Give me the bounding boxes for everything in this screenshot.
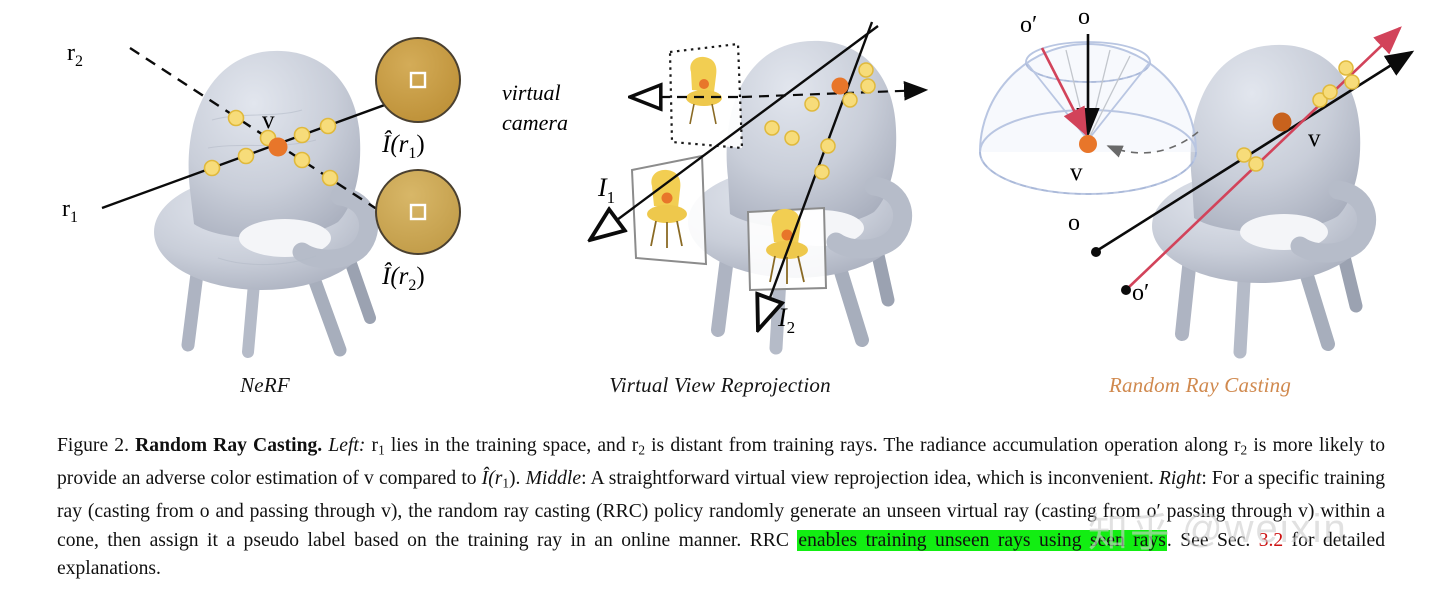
- panel-nerf: r2 r1 v Î(r1) Î(r2) NeRF: [40, 0, 490, 420]
- panel-title-random-ray-casting: Random Ray Casting: [960, 373, 1440, 398]
- caption-figure-label: Figure 2.: [57, 435, 129, 456]
- label-ihat-r2: Î(r2): [381, 262, 425, 294]
- chair-model-left: [154, 51, 370, 352]
- label-o-prime-cone: o′: [1020, 12, 1037, 38]
- label-o-cone: o: [1078, 4, 1090, 30]
- nerf-diagram: r2 r1 v Î(r1) Î(r2): [40, 0, 490, 400]
- voxel-point-right: [1273, 113, 1292, 132]
- voxel-point-cone: [1079, 135, 1097, 153]
- random-ray-casting-diagram: o o′ v o o′ v: [960, 0, 1440, 400]
- caption-ihat: Î(r: [482, 468, 503, 489]
- label-virtual-camera-line1: virtual: [502, 80, 561, 105]
- figure-caption: Figure 2. Random Ray Casting. Left: r1 l…: [57, 432, 1385, 583]
- voxel-point-middle: [832, 78, 849, 95]
- label-o-prime-bottom: o′: [1132, 280, 1149, 306]
- caption-left-c: is distant from training rays. The radia…: [645, 435, 1241, 456]
- label-r2: r2: [67, 40, 83, 70]
- label-v-cone: v: [1070, 159, 1083, 186]
- caption-highlight: enables training unseen rays using seen …: [797, 530, 1167, 551]
- label-ihat-r1: Î(r1): [381, 130, 425, 162]
- caption-left-a-sub: 1: [378, 443, 385, 458]
- inset-disc-ihat-r2: [376, 170, 460, 254]
- caption-middle-text: : A straightforward virtual view reproje…: [581, 468, 1159, 489]
- caption-left-b-sub: 2: [638, 443, 645, 458]
- inset-disc-ihat-r1: [376, 38, 460, 122]
- caption-right-tag: Right: [1159, 468, 1201, 489]
- caption-left-a: r: [365, 435, 378, 456]
- origin-point-o: [1091, 247, 1101, 257]
- figure-image: r2 r1 v Î(r1) Î(r2) NeRF: [0, 0, 1440, 420]
- panel-title-nerf: NeRF: [40, 373, 490, 398]
- label-virtual-camera-line2: camera: [502, 110, 568, 135]
- panel-title-virtual-view-reprojection: Virtual View Reprojection: [480, 373, 960, 398]
- panel-random-ray-casting: o o′ v o o′ v Random Ray Ca: [960, 0, 1440, 420]
- caption-middle-tag: Middle: [526, 468, 582, 489]
- caption-figure-title: Random Ray Casting.: [135, 435, 322, 456]
- panel-virtual-view-reprojection: virtual camera I1 I2 Virtual View Reproj…: [480, 0, 960, 420]
- caption-left-b: lies in the training space, and r: [385, 435, 639, 456]
- voxel-point-v: [269, 138, 288, 157]
- virtual-view-diagram: virtual camera I1 I2: [480, 0, 960, 400]
- caption-ihat-end: ).: [509, 468, 526, 489]
- label-o-bottom: o: [1068, 210, 1080, 236]
- origin-point-o-prime: [1121, 285, 1131, 295]
- label-I1: I1: [597, 173, 615, 207]
- label-I2: I2: [777, 303, 795, 337]
- label-v: v: [262, 107, 275, 134]
- caption-after-highlight: . See Sec.: [1167, 530, 1259, 551]
- caption-section-link[interactable]: 3.2: [1259, 530, 1284, 551]
- caption-left-tag: Left:: [328, 435, 365, 456]
- label-v-right: v: [1308, 125, 1321, 152]
- random-ray-cone-sphere: [980, 34, 1198, 194]
- label-r1: r1: [62, 196, 78, 226]
